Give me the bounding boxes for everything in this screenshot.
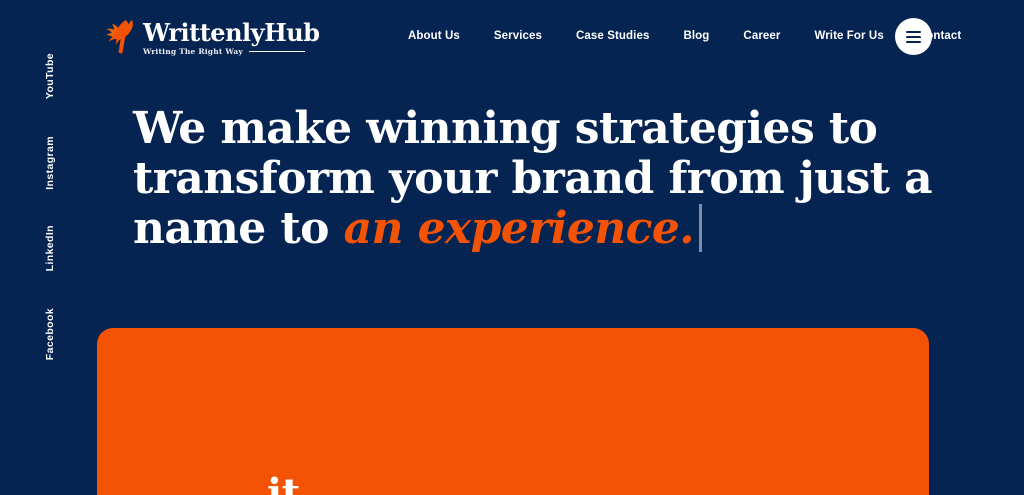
hero-line-3: name to an experience. [133, 204, 963, 254]
nav-item-blog[interactable]: Blog [666, 30, 726, 42]
hero-line-3-prefix: name to [133, 203, 344, 254]
logo-rule [249, 51, 305, 52]
social-link-facebook[interactable]: Facebook [44, 308, 56, 360]
nav-item-career[interactable]: Career [726, 30, 797, 42]
nav-item-write-for-us[interactable]: Write For Us [797, 30, 900, 42]
nav-item-services[interactable]: Services [477, 30, 559, 42]
logo-wordmark: WrittenlyHub [143, 20, 320, 46]
social-link-youtube[interactable]: YouTube [44, 53, 56, 99]
hero-heading: We make winning strategies to transform … [133, 104, 963, 254]
site-header: WrittenlyHub Writing The Right Way About… [0, 0, 1024, 75]
promo-card: it [97, 328, 929, 495]
nav-item-about-us[interactable]: About Us [400, 30, 477, 42]
social-link-instagram[interactable]: Instagram [44, 136, 56, 190]
logo-tagline: Writing The Right Way [143, 47, 243, 56]
hamburger-bar-2 [906, 36, 921, 38]
primary-navigation: About Us Services Case Studies Blog Care… [400, 30, 978, 42]
phoenix-bird-icon [97, 16, 139, 58]
social-links-rail: Facebook LinkedIn Instagram YouTube [38, 120, 62, 360]
hamburger-bar-1 [906, 31, 921, 33]
nav-item-case-studies[interactable]: Case Studies [559, 30, 666, 42]
hero-line-2: transform your brand from just a [133, 154, 963, 204]
site-logo[interactable]: WrittenlyHub Writing The Right Way [97, 16, 320, 58]
hamburger-menu-icon[interactable] [895, 18, 932, 55]
hero-line-3-accent: an experience. [344, 203, 694, 254]
hamburger-bar-3 [906, 41, 921, 43]
promo-card-text: it [267, 472, 300, 495]
social-link-linkedin[interactable]: LinkedIn [44, 225, 56, 271]
hero-line-1: We make winning strategies to [133, 104, 963, 154]
typing-cursor [699, 204, 702, 252]
